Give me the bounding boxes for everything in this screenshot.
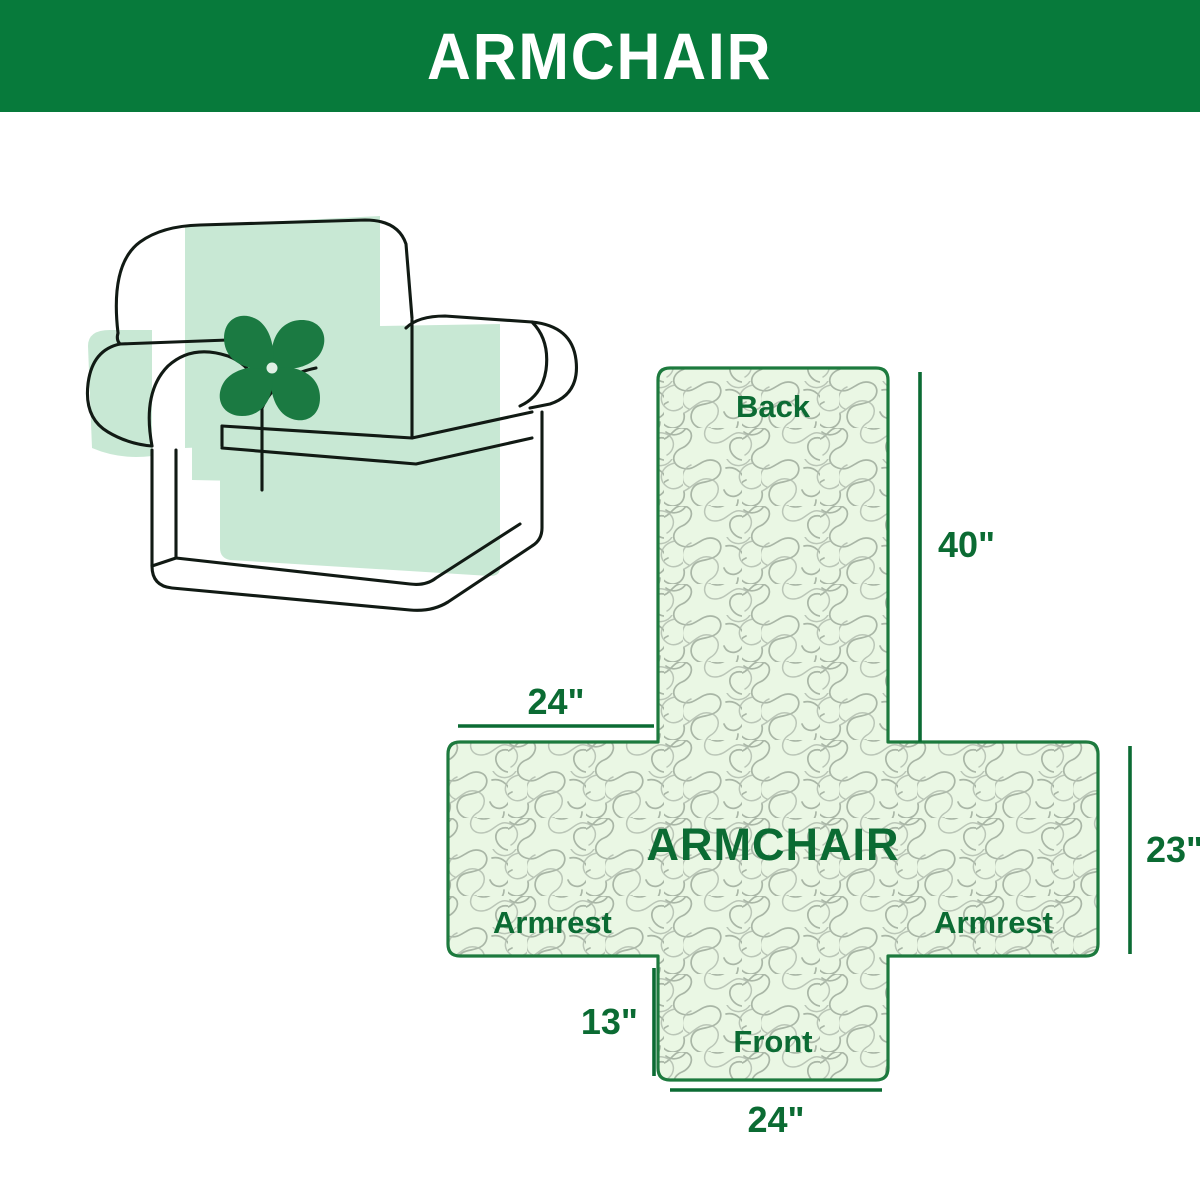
panel-label-armrest-left: Armrest	[493, 905, 612, 940]
product-dimension-page: ARMCHAIR	[0, 0, 1200, 1200]
panel-label-center: ARMCHAIR	[647, 819, 900, 870]
dimension-label-24-bottom: 24"	[747, 1099, 804, 1140]
dimension-label-13: 13"	[581, 1001, 638, 1042]
dimension-label-24-top: 24"	[527, 681, 584, 722]
panel-label-front: Front	[733, 1024, 812, 1059]
dimension-label-23: 23"	[1146, 829, 1200, 870]
page-title: ARMCHAIR	[427, 23, 772, 89]
cover-shape	[448, 368, 1098, 1080]
header-banner: ARMCHAIR	[0, 0, 1200, 112]
cover-layout-diagram: Back ARMCHAIR Armrest Armrest Front 40" …	[430, 350, 1200, 1140]
panel-label-back: Back	[736, 389, 811, 424]
panel-label-armrest-right: Armrest	[934, 905, 1053, 940]
dimension-label-40: 40"	[938, 524, 995, 565]
